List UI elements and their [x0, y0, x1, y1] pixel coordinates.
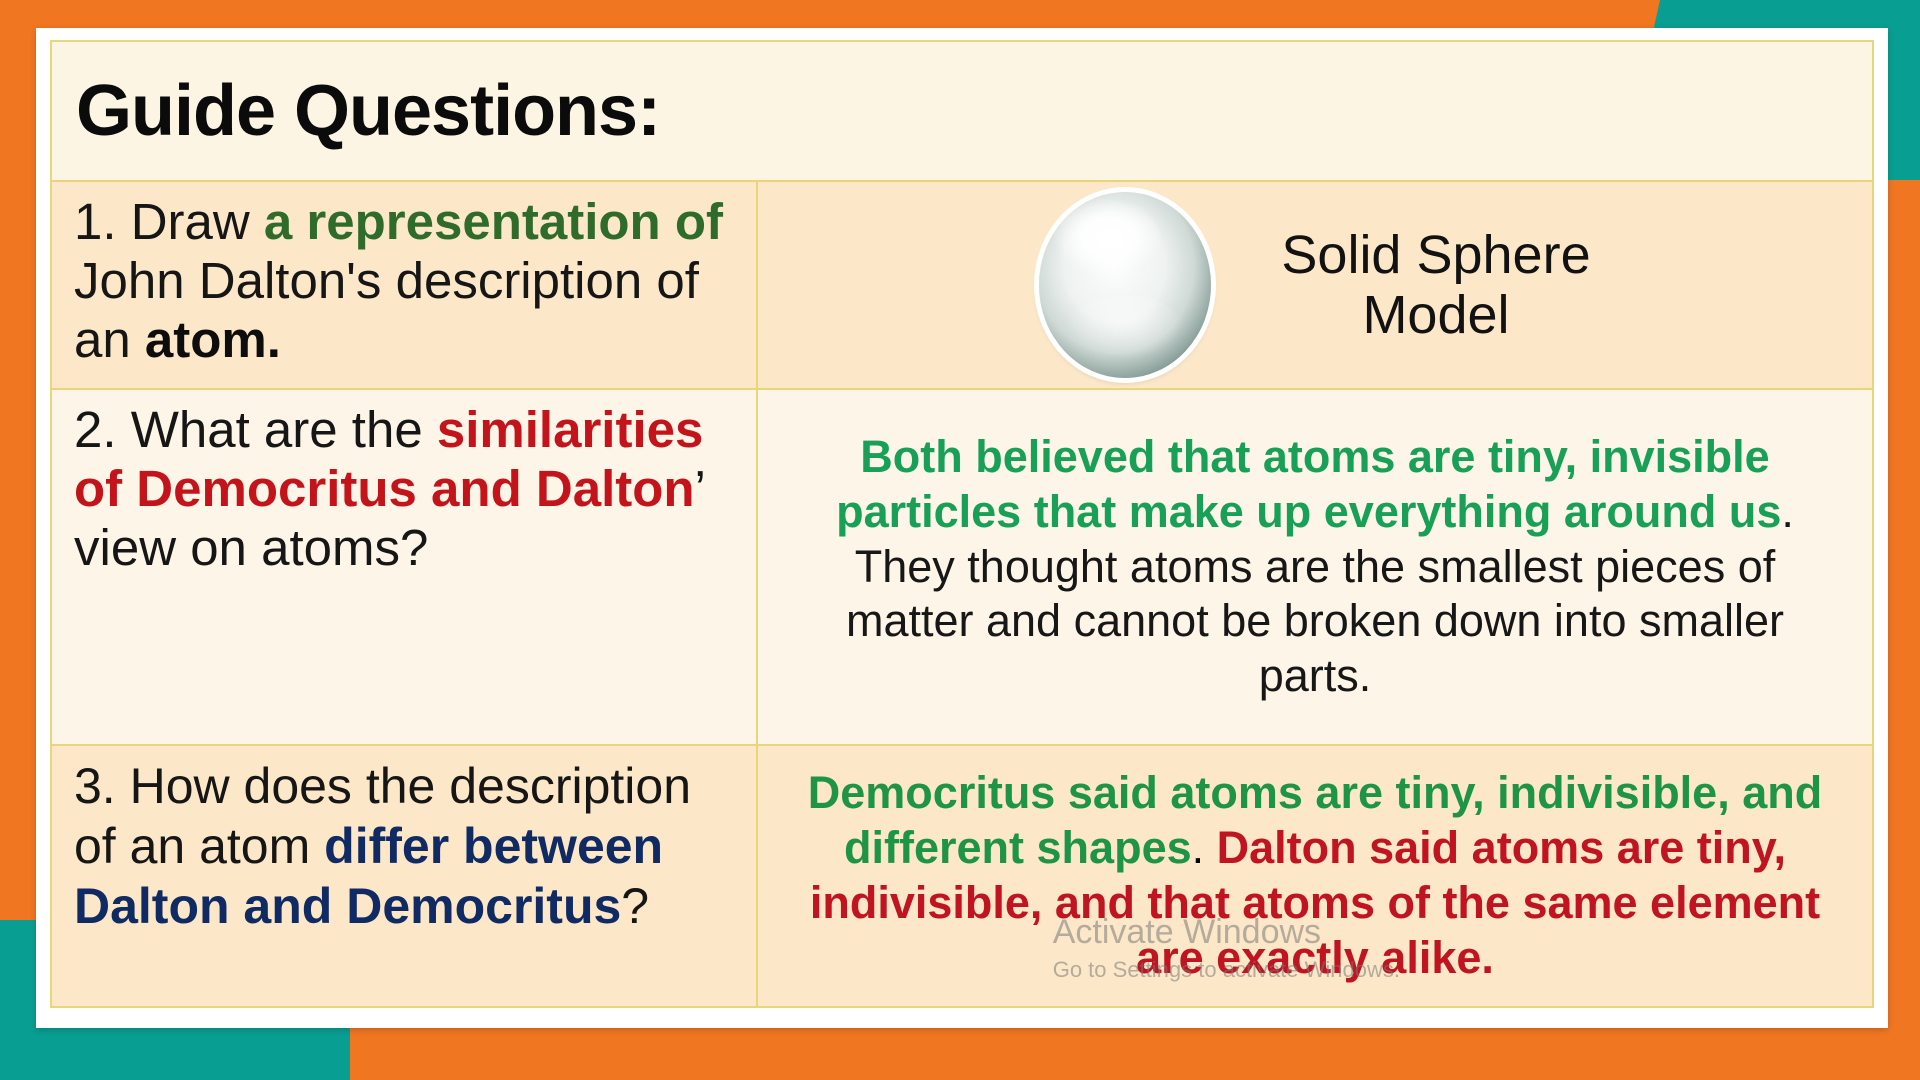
- answer-text-3: Democritus said atoms are tiny, indivisi…: [786, 766, 1844, 986]
- question-2-prefix: 2. What are the: [74, 401, 437, 458]
- table-title-row: Guide Questions:: [52, 42, 1872, 182]
- table-row: 2. What are the similarities of Democrit…: [52, 390, 1872, 746]
- solid-sphere-model: Solid Sphere Model: [786, 192, 1844, 378]
- question-text-2: 2. What are the similarities of Democrit…: [74, 400, 732, 577]
- guide-questions-table: Guide Questions: 1. Draw a representatio…: [50, 40, 1874, 1008]
- question-text-1: 1. Draw a representation of John Dalton'…: [74, 192, 732, 369]
- question-cell-1: 1. Draw a representation of John Dalton'…: [52, 182, 758, 388]
- table-row: 3. How does the description of an atom d…: [52, 746, 1872, 1006]
- question-cell-3: 3. How does the description of an atom d…: [52, 746, 758, 1006]
- answer-2-green: Both believed that atoms are tiny, invis…: [836, 431, 1781, 537]
- answer-3-separator: .: [1192, 822, 1217, 873]
- table-row: 1. Draw a representation of John Dalton'…: [52, 182, 1872, 390]
- answer-cell-3: Democritus said atoms are tiny, indivisi…: [758, 746, 1872, 1006]
- sphere-icon: [1039, 192, 1211, 378]
- answer-text-2: Both believed that atoms are tiny, invis…: [786, 430, 1844, 704]
- question-1-highlight-green: a representation of: [264, 193, 723, 250]
- question-text-3: 3. How does the description of an atom d…: [74, 756, 732, 936]
- answer-cell-2: Both believed that atoms are tiny, invis…: [758, 390, 1872, 744]
- question-1-prefix: 1. Draw: [74, 193, 264, 250]
- slide-canvas: Guide Questions: 1. Draw a representatio…: [0, 0, 1920, 1080]
- slide-card: Guide Questions: 1. Draw a representatio…: [36, 28, 1888, 1028]
- question-3-suffix: ?: [621, 878, 649, 934]
- question-cell-2: 2. What are the similarities of Democrit…: [52, 390, 758, 744]
- model-label: Solid Sphere Model: [1281, 225, 1590, 346]
- question-1-highlight-bold: atom.: [145, 311, 281, 368]
- page-title: Guide Questions:: [76, 75, 660, 147]
- answer-cell-1: Solid Sphere Model: [758, 182, 1872, 388]
